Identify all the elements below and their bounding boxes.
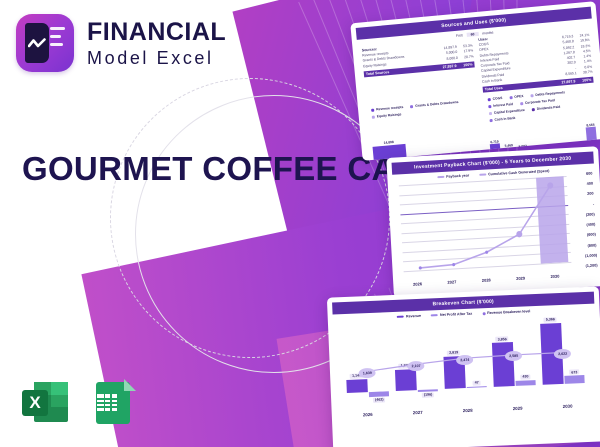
sources-table: Sources: Revenue receipts14,897.953.3%Gr… (362, 38, 478, 103)
google-sheets-icon (90, 379, 136, 425)
legend-item: Corporate Tax Paid (520, 98, 555, 105)
payback-y-axis: 600400200-(200)(400)(600)(800)(1,000)(1,… (567, 172, 597, 265)
legend-item: Cumulative Cash Generated (Spent) (479, 169, 549, 177)
microsoft-excel-icon: X (22, 379, 68, 425)
sources-total-pct: 100% (456, 62, 472, 67)
file-format-badges: X (22, 379, 136, 425)
axis-tick-label: (400) (586, 223, 595, 227)
brand-line-1: FINANCIAL (87, 20, 226, 45)
period-label-right: months (482, 31, 493, 36)
panel-sources-and-uses[interactable]: Sources and Uses ($'000) First 60 months… (350, 1, 600, 161)
axis-tick-label: 2029 (493, 405, 543, 412)
axis-tick-label: (200) (586, 212, 595, 216)
excel-x-glyph: X (22, 390, 48, 416)
legend-item: Debts Repayments (530, 90, 565, 97)
legend-item: Revenue receipts (371, 105, 404, 112)
poster-canvas: FINANCIAL Model Excel GOURMET COFFEE CAR… (0, 0, 600, 447)
financial-model-app-icon (16, 14, 74, 72)
legend-item: Equity Raisings (372, 112, 402, 119)
period-label-left: First (456, 33, 463, 38)
axis-tick-label: 600 (586, 172, 593, 176)
axis-tick-label: 2027 (435, 279, 470, 286)
legend-item: Capital Expenditure (489, 108, 525, 115)
axis-tick-label: (1,200) (585, 263, 597, 268)
logo-list-lines-icon (50, 27, 66, 51)
logo-zigzag-icon (28, 38, 46, 49)
axis-tick-label: 2028 (469, 277, 504, 284)
panel-investment-payback[interactable]: Investment Payback Chart ($'000) - 5 Yea… (386, 146, 600, 298)
axis-tick-label: (1,000) (585, 253, 597, 258)
period-value[interactable]: 60 (466, 32, 478, 37)
payback-plot-area: 600400200-(200)(400)(600)(800)(1,000)(1,… (397, 175, 598, 282)
axis-tick-label: (800) (587, 243, 596, 247)
axis-tick-label: - (593, 202, 594, 206)
legend-item: Interest Paid (488, 102, 513, 108)
brand-header: FINANCIAL Model Excel (16, 14, 226, 72)
brand-wordmark: FINANCIAL Model Excel (87, 20, 226, 67)
uses-total-pct: 100% (575, 78, 591, 83)
payback-line-series (399, 176, 572, 271)
axis-tick-label: 2026 (400, 281, 435, 288)
legend-item: Grants & Debts Drawdowns (410, 100, 459, 108)
axis-tick-label: (600) (587, 233, 596, 237)
axis-tick-label: 2027 (393, 409, 443, 416)
uses-total-value: 27,897.9 (553, 79, 575, 85)
legend-item: Dividends Paid (532, 105, 561, 112)
uses-table: Uses: COGS6,719.324.1%OPEX5,468.819.6%De… (478, 28, 594, 93)
axis-tick-label: 2028 (443, 407, 493, 414)
legend-item: Payback year (437, 173, 469, 179)
axis-tick-label: 2026 (343, 411, 393, 418)
breakeven-plot-area: 1,140(462)1,6391,848(196)2,1072,819472,4… (339, 317, 592, 409)
axis-tick-label: 200 (587, 192, 594, 196)
axis-tick-label: 2029 (503, 275, 538, 282)
panel-breakeven-chart[interactable]: Breakeven Chart ($'000) RevenueNet Profi… (327, 286, 600, 447)
legend-item: Net Profit After Tax (431, 312, 472, 318)
brand-line-2: Model Excel (87, 49, 226, 67)
axis-tick-label: 400 (587, 182, 594, 186)
legend-item: OPEX (509, 94, 523, 99)
axis-tick-label: 2030 (543, 403, 593, 410)
legend-item: COGS (488, 96, 503, 101)
axis-tick-label: 2030 (538, 273, 573, 280)
sources-total-value: 27,897.9 (434, 64, 456, 70)
legend-item: Revenue (397, 314, 421, 319)
legend-item: Revenue Breakeven level (482, 309, 530, 315)
